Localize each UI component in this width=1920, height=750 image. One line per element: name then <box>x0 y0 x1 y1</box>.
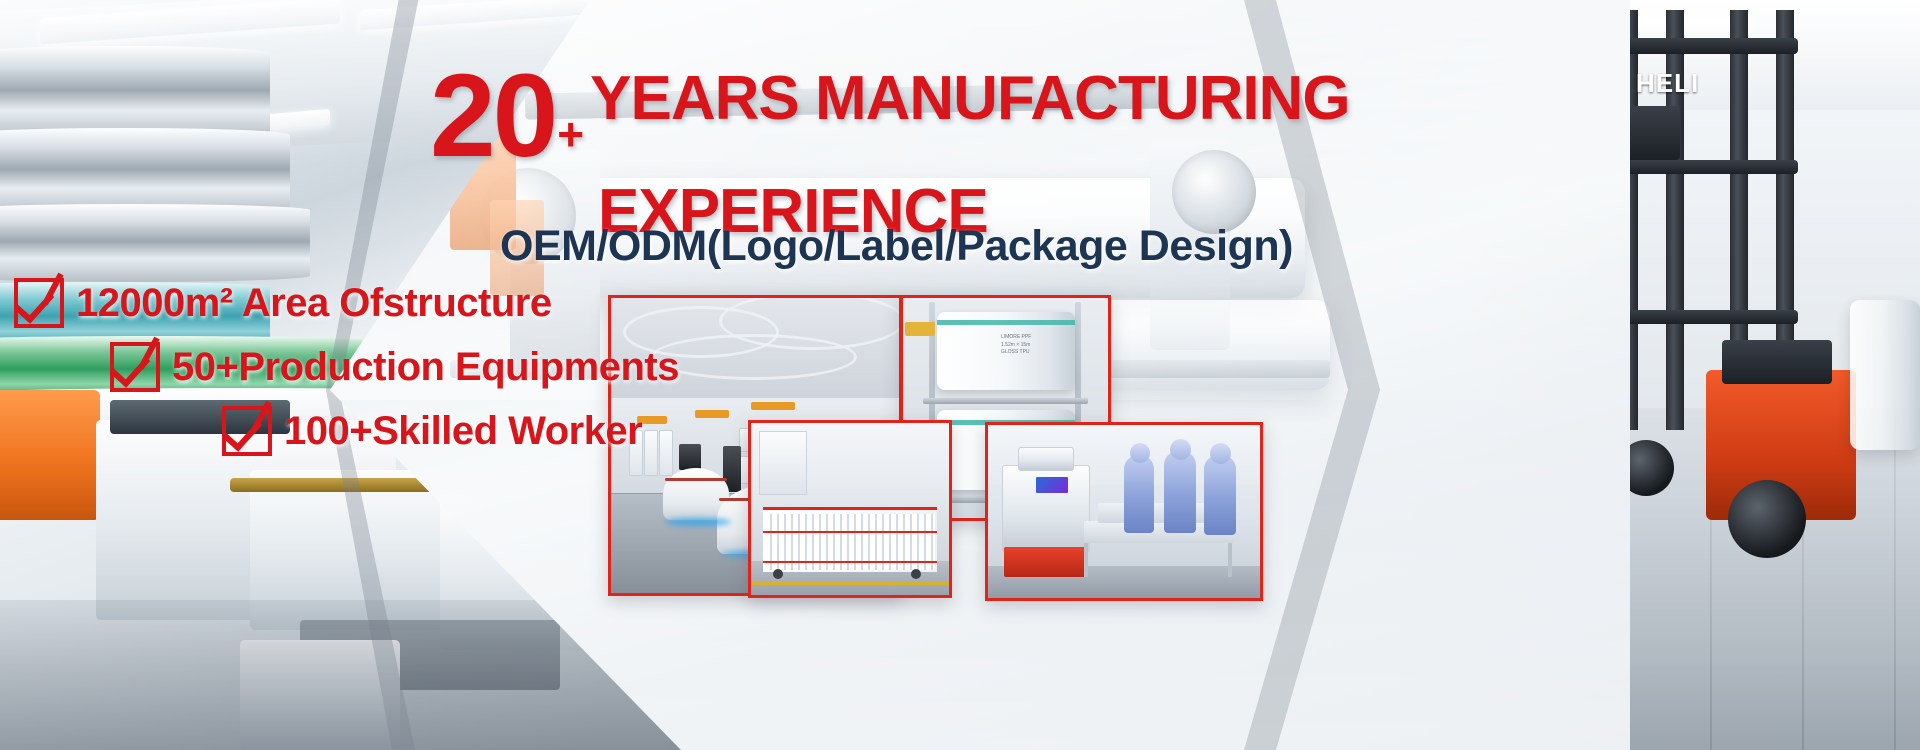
headline-plus: + <box>557 111 584 157</box>
machine-top <box>1018 447 1074 471</box>
forklift: HELI <box>1610 10 1870 570</box>
worker-hood <box>1170 439 1191 460</box>
checklist-item: 12000m² Area Ofstructure <box>14 278 620 328</box>
thumbnail-material-carts[interactable] <box>748 420 952 598</box>
machine-base-red <box>1004 547 1088 577</box>
headline-number: 20 <box>430 62 555 171</box>
paper-roll: LIMORE PPF1.52m × 15mGLOSS TPU <box>937 312 1075 390</box>
table-leg <box>1228 543 1232 577</box>
checklist-item-label: 12000m² Area Ofstructure <box>76 281 552 326</box>
forklift-brand-label: HELI <box>1636 68 1699 99</box>
wall-panel <box>644 430 658 476</box>
paper-roll <box>1850 300 1920 450</box>
checkbox-checked-icon <box>110 342 160 392</box>
feature-checklist: 12000m² Area Ofstructure 50+Production E… <box>0 278 620 470</box>
display-stand <box>679 444 701 470</box>
headline-line-1: YEARS MANUFACTURING <box>590 68 1349 130</box>
sign-amber <box>695 410 729 418</box>
checkbox-checked-icon <box>14 278 64 328</box>
cart-rail <box>763 561 937 563</box>
product-stack <box>1098 503 1218 523</box>
cart-rail <box>763 531 937 533</box>
worker <box>1204 455 1236 535</box>
wall-cabinet <box>759 431 807 495</box>
rack-beam <box>923 398 1088 404</box>
checklist-item: 100+Skilled Worker <box>222 406 620 456</box>
material-roll <box>0 204 310 282</box>
worker <box>1164 451 1196 533</box>
subtitle: OEM/ODM(Logo/Label/Package Design) <box>500 222 1293 271</box>
floor-glow <box>665 518 731 526</box>
worker-hood <box>1130 443 1150 463</box>
checklist-item: 50+Production Equipments <box>110 342 620 392</box>
marketing-banner: LIMOREPPF FILM1.52×15m LIMORE PPF & Wind… <box>0 0 1920 750</box>
ceiling-oval <box>651 334 857 380</box>
sign-amber <box>751 402 795 410</box>
wall-panel <box>659 430 673 476</box>
floor-marking <box>751 581 949 585</box>
counter-trim <box>665 478 727 481</box>
checklist-item-label: 100+Skilled Worker <box>284 409 642 454</box>
material-roll <box>0 46 270 138</box>
headline-block: 20 + YEARS MANUFACTURING EXPERIENCE <box>430 62 1430 243</box>
cart-wheel <box>773 569 783 579</box>
checkbox-checked-icon <box>222 406 272 456</box>
machine-display <box>1036 477 1068 493</box>
material-roll <box>0 128 290 214</box>
cart-wheel <box>911 569 921 579</box>
checklist-item-label: 50+Production Equipments <box>172 345 679 390</box>
worker <box>1124 455 1154 533</box>
table-leg <box>1084 543 1088 577</box>
roll-core-plug <box>905 322 935 336</box>
worker-hood <box>1210 443 1231 464</box>
thumbnail-packing-line[interactable] <box>985 422 1263 601</box>
